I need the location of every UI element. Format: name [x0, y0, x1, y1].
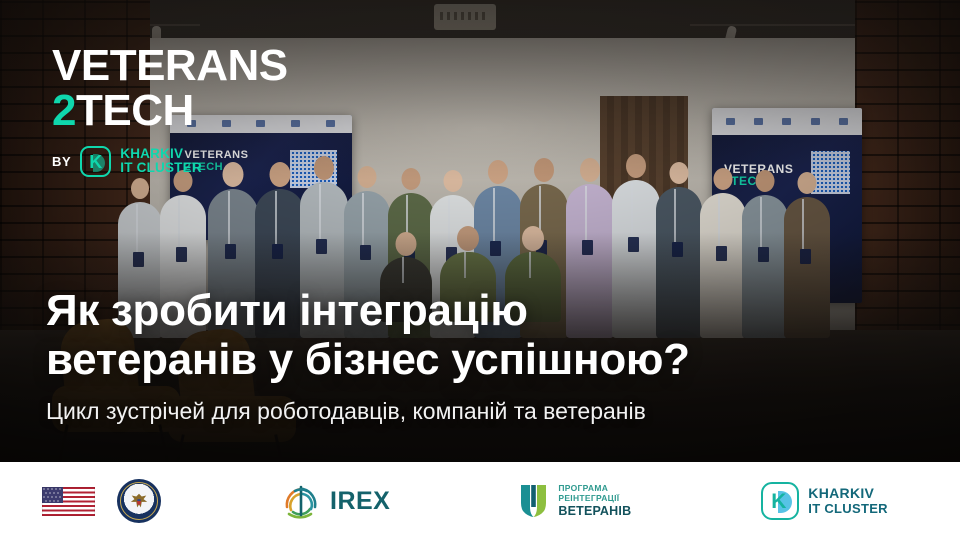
reintegration-line3: ВЕТЕРАНІВ: [558, 504, 631, 518]
k-cluster-mark-icon: K: [80, 146, 111, 177]
footer-logo-bar: IREX ПРОГРАМА РЕІНТЕГРАЦІЇ ВЕТЕРАНІВ K: [0, 462, 960, 540]
irex-logo: IREX: [281, 481, 390, 521]
irex-mark-icon: [281, 481, 321, 521]
kic-line1: KHARKIV: [808, 486, 888, 501]
us-flag-icon: [42, 487, 95, 516]
kharkiv-it-cluster-logo: K KHARKIV IT CLUSTER: [761, 482, 888, 520]
by-label: BY: [52, 154, 71, 169]
kharkiv-it-cluster-mark-icon: K: [761, 482, 799, 520]
headline: Як зробити інтеграцію ветеранів у бізнес…: [46, 286, 926, 385]
poster-slide: VETERANS 2TECH VETERANS 2TECH: [0, 0, 960, 540]
brand-partner-row: BY K KHARKIV IT CLUSTER: [52, 146, 288, 177]
reintegration-line2: РЕІНТЕГРАЦІЇ: [558, 494, 631, 504]
brand-title-line1: VETERANS: [52, 44, 288, 87]
subtitle: Цикл зустрічей для роботодавців, компані…: [46, 398, 926, 426]
us-gov-logo-group: [42, 479, 161, 523]
irex-wordmark: IREX: [330, 487, 390, 516]
kharkiv-it-cluster-wordmark: KHARKIV IT CLUSTER: [808, 486, 888, 516]
reintegration-wordmark: ПРОГРАМА РЕІНТЕГРАЦІЇ ВЕТЕРАНІВ: [558, 484, 631, 517]
reintegration-shield-icon: [518, 483, 549, 519]
us-department-of-state-seal-icon: [117, 479, 161, 523]
brand-title-two: 2: [52, 86, 76, 135]
veterans-reintegration-program-logo: ПРОГРАМА РЕІНТЕГРАЦІЇ ВЕТЕРАНІВ: [518, 483, 631, 519]
headline-line-2: ветеранів у бізнес успішною?: [46, 335, 926, 384]
brand-partner-line1: KHARKIV: [120, 147, 202, 162]
headline-line-1: Як зробити інтеграцію: [46, 286, 926, 335]
kic-line2: IT CLUSTER: [808, 502, 888, 516]
brand-partner-line2: IT CLUSTER: [120, 161, 202, 176]
brand-title-tech: TECH: [76, 86, 194, 135]
brand-lockup: VETERANS 2TECH BY K KHARKIV IT CLUSTER: [52, 44, 288, 177]
brand-partner-name: KHARKIV IT CLUSTER: [120, 147, 202, 176]
brand-title-line2: 2TECH: [52, 89, 288, 134]
eagle-glyph: [128, 491, 150, 511]
